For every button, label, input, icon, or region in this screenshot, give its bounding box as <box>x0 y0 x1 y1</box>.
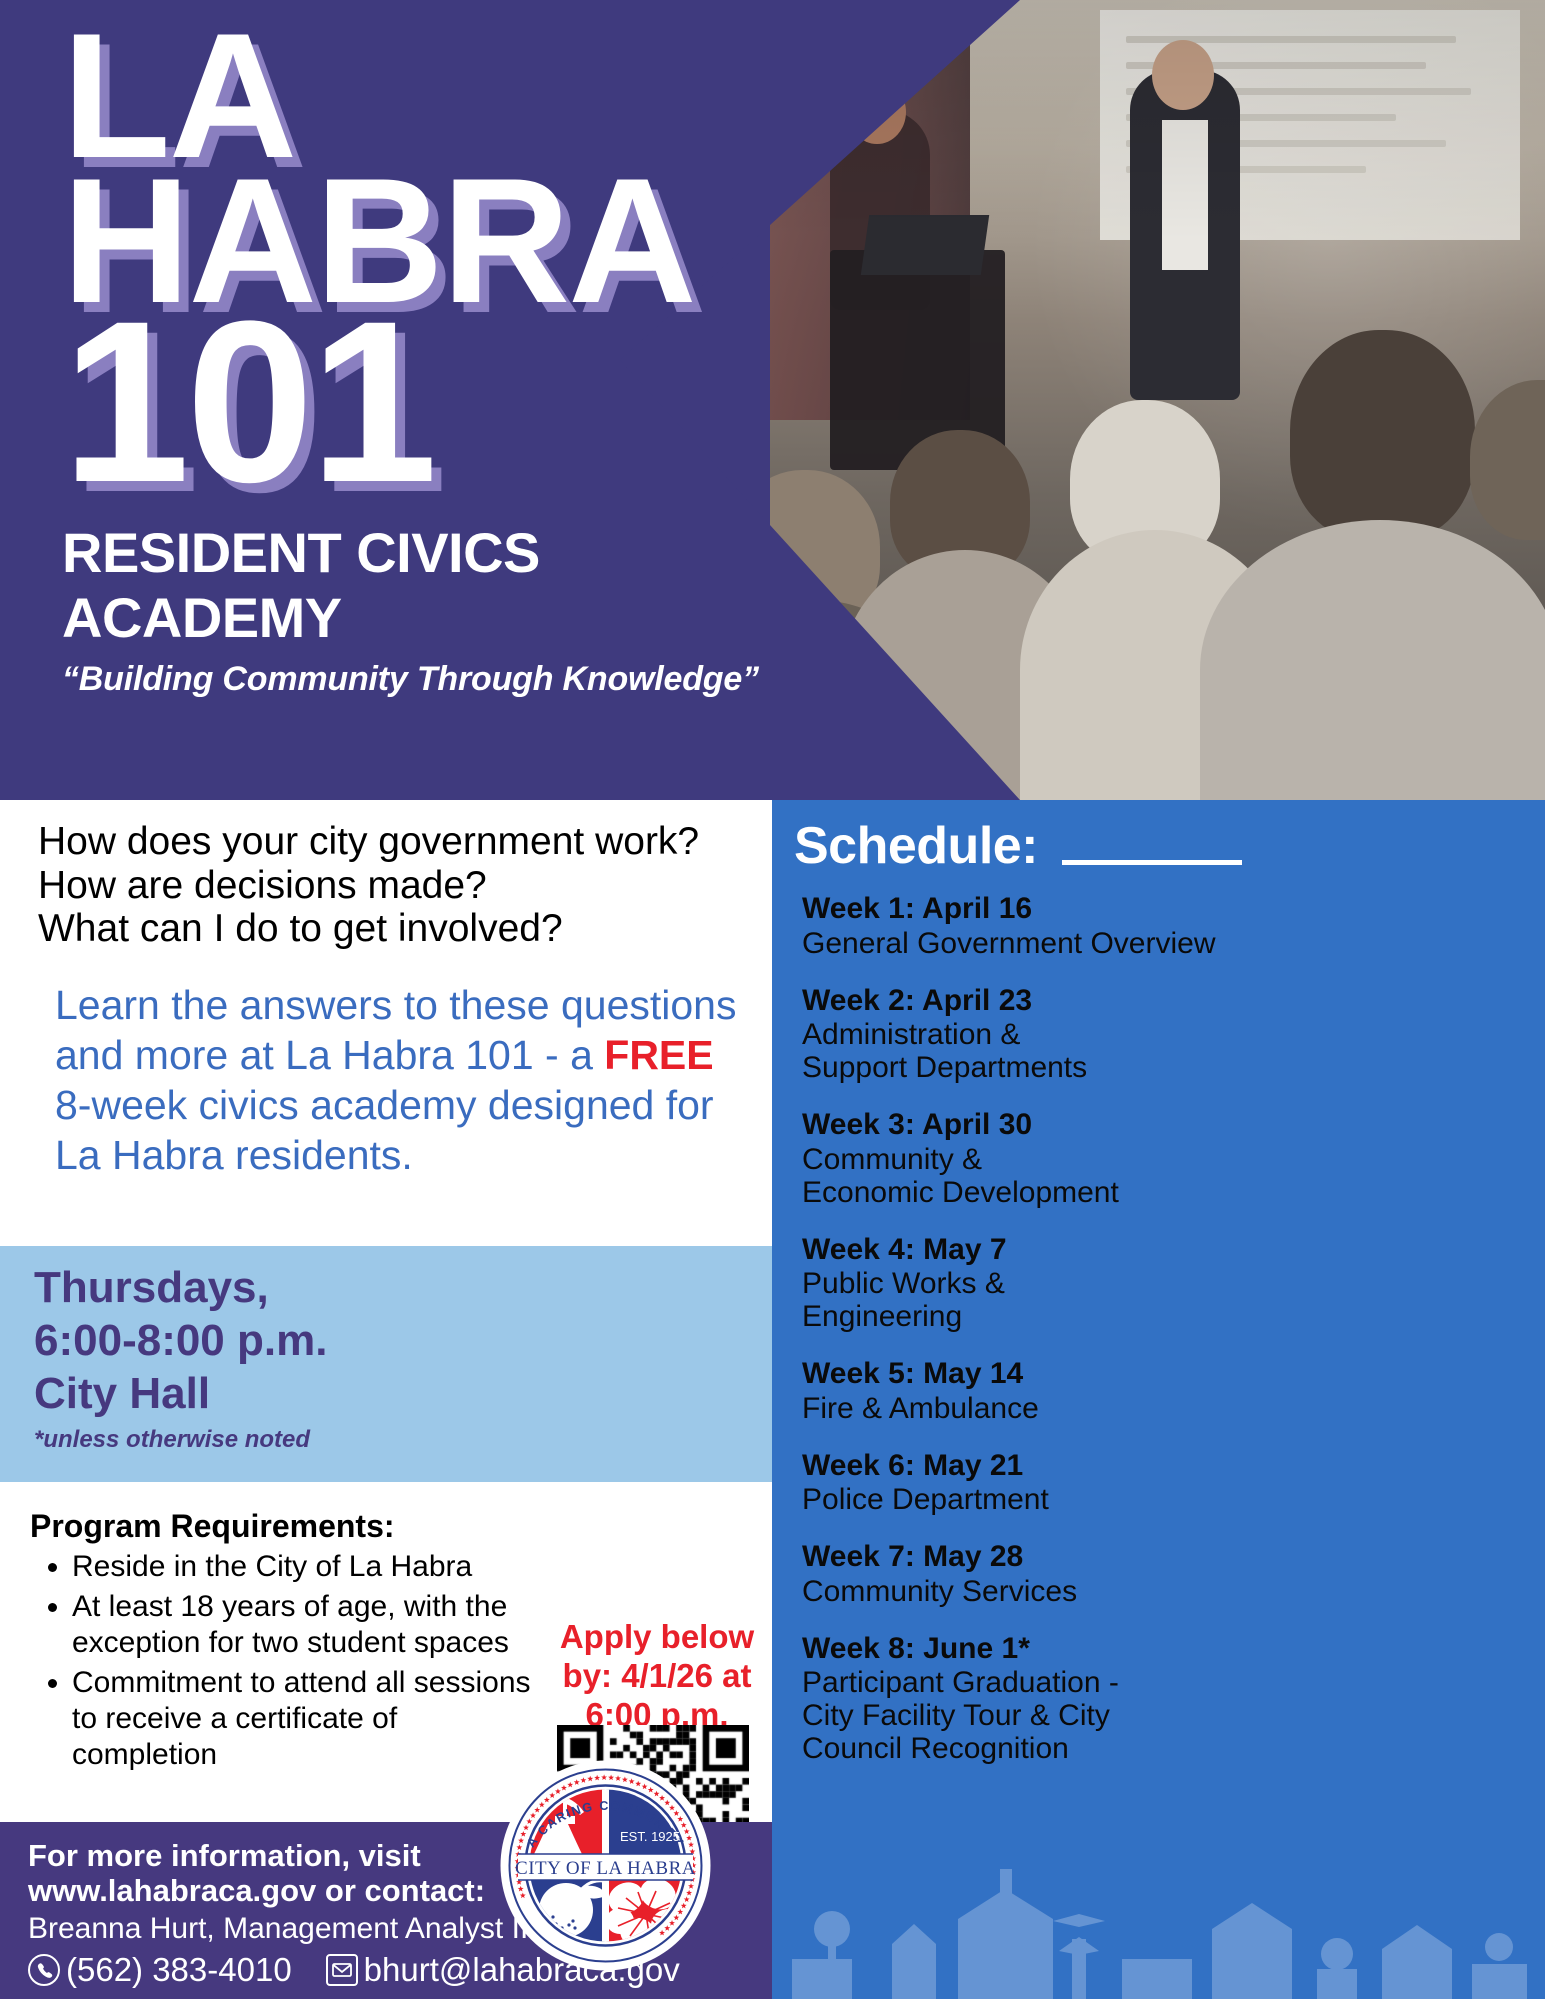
schedule-week-desc: Fire & Ambulance <box>802 1392 1242 1425</box>
schedule-week-label: Week 7: May 28 <box>802 1540 1242 1575</box>
schedule-week-item: Week 1: April 16General Government Overv… <box>802 892 1242 960</box>
free-highlight: FREE <box>604 1032 713 1078</box>
schedule-week-item: Week 2: April 23Administration &Support … <box>802 984 1242 1085</box>
schedule-week-label: Week 1: April 16 <box>802 892 1242 927</box>
program-requirements: Program Requirements: Reside in the City… <box>30 1508 550 1777</box>
schedule-week-label: Week 2: April 23 <box>802 984 1242 1019</box>
requirement-item: At least 18 years of age, with the excep… <box>72 1589 550 1661</box>
schedule-week-item: Week 5: May 14Fire & Ambulance <box>802 1357 1242 1425</box>
phone-icon <box>28 1954 60 1986</box>
schedule-week-item: Week 6: May 21Police Department <box>802 1449 1242 1517</box>
lead-text-part2: 8-week civics academy designed for La Ha… <box>55 1082 714 1178</box>
seal-est-text: EST. 1925 <box>620 1829 680 1844</box>
schedule-heading-rule <box>1062 860 1242 865</box>
schedule-week-desc: Administration &Support Departments <box>802 1018 1242 1084</box>
question-2: How are decisions made? <box>38 864 738 908</box>
schedule-week-label: Week 5: May 14 <box>802 1357 1242 1392</box>
meeting-time: 6:00-8:00 p.m. <box>34 1315 464 1368</box>
left-content-column: How does your city government work? How … <box>0 800 772 1999</box>
question-3: What can I do to get involved? <box>38 907 738 951</box>
schedule-week-desc: Community Services <box>802 1575 1242 1608</box>
seal-name-banner: CITY OF LA HABRA <box>515 1854 696 1880</box>
lead-paragraph: Learn the answers to these questions and… <box>55 980 745 1180</box>
header-banner: LA HABRA 101 RESIDENT CIVICS ACADEMY “Bu… <box>0 0 1545 800</box>
mail-icon <box>326 1954 358 1986</box>
schedule-week-desc: Public Works &Engineering <box>802 1267 1242 1333</box>
requirements-heading: Program Requirements: <box>30 1508 550 1545</box>
meeting-info-text: Thursdays, 6:00-8:00 p.m. City Hall *unl… <box>34 1262 464 1454</box>
question-1: How does your city government work? <box>38 820 738 864</box>
footer-phone[interactable]: (562) 383-4010 <box>66 1951 292 1989</box>
seal-city-name: CITY OF LA HABRA <box>515 1858 696 1879</box>
schedule-heading: Schedule: <box>794 816 1038 876</box>
requirements-list: Reside in the City of La Habra At least … <box>30 1549 550 1773</box>
city-skyline-decor <box>772 1809 1545 1999</box>
schedule-week-label: Week 8: June 1* <box>802 1632 1242 1667</box>
meeting-place: City Hall <box>34 1368 464 1421</box>
schedule-week-item: Week 4: May 7Public Works &Engineering <box>802 1233 1242 1334</box>
requirement-item: Reside in the City of La Habra <box>72 1549 550 1585</box>
questions-block: How does your city government work? How … <box>38 820 738 951</box>
schedule-week-label: Week 3: April 30 <box>802 1108 1242 1143</box>
meeting-day: Thursdays, <box>34 1262 464 1315</box>
schedule-week-desc: General Government Overview <box>802 927 1242 960</box>
header-subtitle: RESIDENT CIVICS ACADEMY <box>62 520 782 650</box>
schedule-week-desc: Police Department <box>802 1483 1242 1516</box>
flyer-page: LA HABRA 101 RESIDENT CIVICS ACADEMY “Bu… <box>0 0 1545 1999</box>
schedule-week-desc: Community &Economic Development <box>802 1143 1242 1209</box>
schedule-week-item: Week 3: April 30Community &Economic Deve… <box>802 1108 1242 1209</box>
header-tagline: “Building Community Through Knowledge” <box>62 660 782 699</box>
schedule-week-label: Week 4: May 7 <box>802 1233 1242 1268</box>
schedule-panel: Schedule: <box>772 800 1545 1999</box>
schedule-week-desc: Participant Graduation -City Facility To… <box>802 1666 1242 1765</box>
schedule-week-list: Week 1: April 16General Government Overv… <box>802 892 1242 1789</box>
schedule-week-label: Week 6: May 21 <box>802 1449 1242 1484</box>
apply-deadline-text: Apply below by: 4/1/26 at 6:00 p.m. <box>552 1618 762 1735</box>
requirement-item: Commitment to attend all sessions to rec… <box>72 1665 550 1773</box>
schedule-week-item: Week 7: May 28Community Services <box>802 1540 1242 1608</box>
city-of-la-habra-seal: CITY OF LA HABRA A CARING COMMUNITY EST.… <box>498 1758 713 1973</box>
schedule-week-item: Week 8: June 1*Participant Graduation -C… <box>802 1632 1242 1766</box>
title-block: LA HABRA 101 RESIDENT CIVICS ACADEMY “Bu… <box>62 18 782 699</box>
meeting-note: *unless otherwise noted <box>34 1426 464 1454</box>
